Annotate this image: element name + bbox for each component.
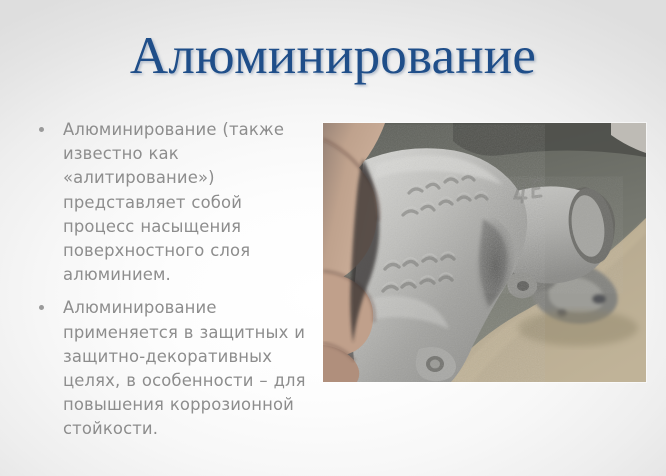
bullet-list-item: Алюминирование (также известно как «алит… bbox=[24, 118, 316, 287]
slide-title: Алюминирование bbox=[0, 26, 666, 86]
bullet-list-item: Алюминирование применяется в защитных и … bbox=[24, 296, 316, 441]
slide-body-content: Алюминирование (также известно как «алит… bbox=[24, 118, 316, 451]
bullet-item-text: Алюминирование (также известно как «алит… bbox=[63, 118, 316, 287]
presentation-slide: Алюминирование Алюминирование (также изв… bbox=[0, 0, 666, 476]
aluminized-cast-manifold-photo bbox=[323, 123, 646, 382]
round-bullet-icon bbox=[39, 305, 44, 310]
bullet-item-text: Алюминирование применяется в защитных и … bbox=[63, 296, 316, 441]
photo-illustration bbox=[323, 123, 646, 382]
round-bullet-icon bbox=[39, 127, 44, 132]
